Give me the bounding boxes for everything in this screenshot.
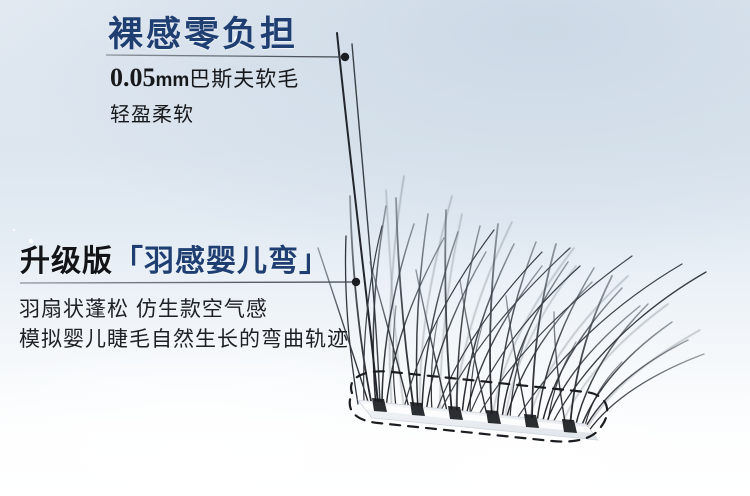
callout-bottom-heading-prefix: 升级版 [20, 245, 113, 278]
fiber-thickness-value: 0.05 [110, 63, 156, 92]
fiber-material-label: 巴斯夫软毛 [189, 68, 299, 91]
product-feature-image: 裸感零负担 0.05mm巴斯夫软毛 轻盈柔软 升级版「羽感婴儿弯」 羽扇状蓬松 … [0, 0, 750, 496]
callout-top-detail: 0.05mm巴斯夫软毛 [110, 63, 299, 93]
callout-bottom-heading-quoted: 「羽感婴儿弯」 [113, 245, 330, 278]
callout-bottom-detail-line2: 模拟婴儿睫毛自然生长的弯曲轨迹 [19, 323, 349, 353]
fiber-thickness-unit: mm [156, 70, 190, 91]
callout-bottom-detail-line1: 羽扇状蓬松 仿生款空气感 [19, 293, 268, 323]
callout-bottom-heading: 升级版「羽感婴儿弯」 [20, 236, 330, 280]
callout-top-heading: 裸感零负担 [108, 6, 298, 57]
callout-top-detail-line2: 轻盈柔软 [110, 98, 194, 127]
